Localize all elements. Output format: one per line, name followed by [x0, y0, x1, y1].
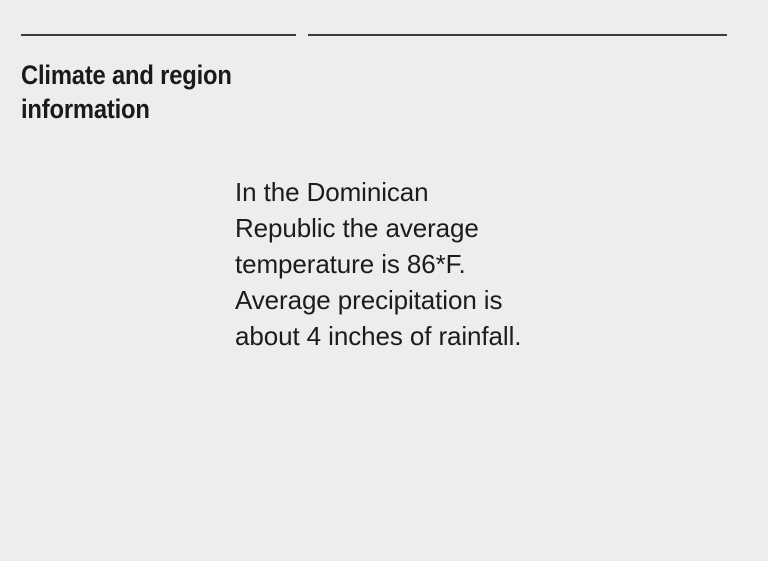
- header-rule-left: [21, 34, 296, 36]
- page-title: Climate and region information: [21, 58, 303, 126]
- header-rule-right: [308, 34, 727, 36]
- slide: Climate and region information In the Do…: [0, 0, 768, 561]
- header-divider-group: [21, 34, 727, 36]
- body-text-block: In the Dominican Republic the average te…: [235, 174, 525, 354]
- climate-description: In the Dominican Republic the average te…: [235, 174, 525, 354]
